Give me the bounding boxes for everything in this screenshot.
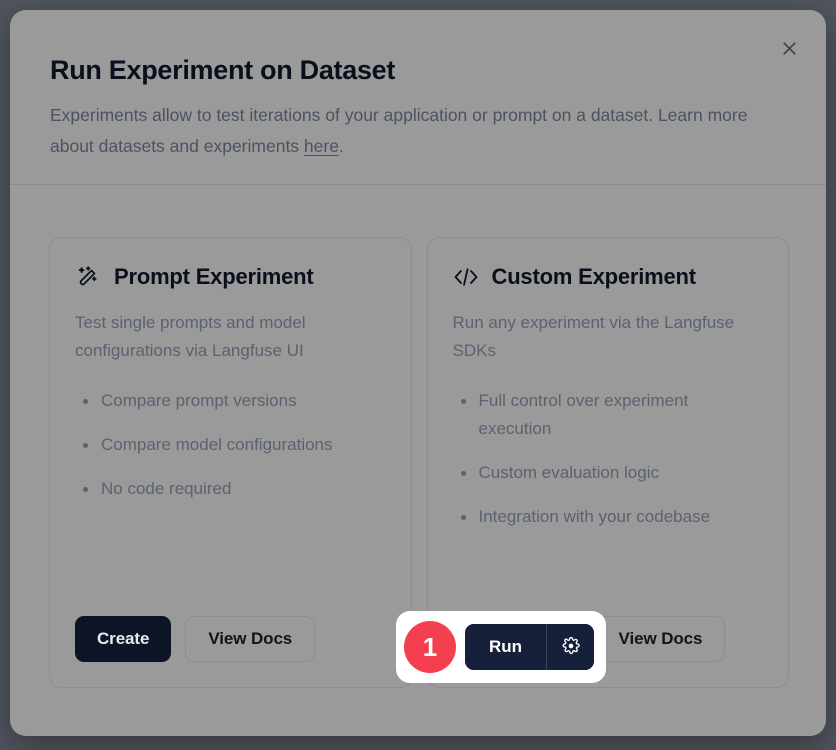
run-experiment-dialog: Run Experiment on Dataset Experiments al…	[10, 10, 826, 736]
custom-experiment-title: Custom Experiment	[492, 264, 696, 290]
custom-experiment-view-docs-button[interactable]: View Docs	[596, 616, 726, 662]
prompt-experiment-card-header: Prompt Experiment	[75, 262, 386, 292]
prompt-experiment-title: Prompt Experiment	[114, 264, 314, 290]
step-number-badge: 1	[404, 621, 456, 673]
code-brackets-icon	[453, 264, 479, 290]
list-item: Integration with your codebase	[453, 503, 764, 531]
dialog-description: Experiments allow to test iterations of …	[50, 100, 750, 162]
run-experiment-button-highlighted[interactable]: Run	[465, 624, 547, 670]
dialog-header: Run Experiment on Dataset Experiments al…	[10, 10, 826, 185]
list-item: Custom evaluation logic	[453, 459, 764, 487]
prompt-experiment-view-docs-button[interactable]: View Docs	[185, 616, 315, 662]
close-icon	[780, 39, 799, 58]
dialog-title: Run Experiment on Dataset	[50, 55, 395, 86]
run-button-group-highlighted: Run	[465, 624, 594, 670]
custom-experiment-card-header: Custom Experiment	[453, 262, 764, 292]
list-item: Compare prompt versions	[75, 387, 386, 415]
prompt-experiment-feature-list: Compare prompt versions Compare model co…	[75, 387, 386, 503]
custom-experiment-subtitle: Run any experiment via the Langfuse SDKs	[453, 309, 764, 365]
create-button[interactable]: Create	[75, 616, 171, 662]
dialog-description-text-part1: Experiments allow to test iterations of …	[50, 105, 747, 156]
dialog-description-text-part2: .	[339, 136, 344, 156]
prompt-experiment-actions: Create View Docs	[75, 616, 315, 662]
list-item: Compare model configurations	[75, 431, 386, 459]
prompt-experiment-card[interactable]: Prompt Experiment Test single prompts an…	[49, 237, 412, 688]
learn-more-link[interactable]: here	[304, 136, 339, 156]
close-button[interactable]	[771, 30, 807, 66]
gear-icon	[562, 637, 580, 658]
run-options-button-highlighted[interactable]	[547, 624, 594, 670]
magic-wand-icon	[75, 264, 101, 290]
list-item: Full control over experiment execution	[453, 387, 764, 443]
list-item: No code required	[75, 475, 386, 503]
custom-experiment-feature-list: Full control over experiment execution C…	[453, 387, 764, 531]
prompt-experiment-subtitle: Test single prompts and model configurat…	[75, 309, 386, 365]
